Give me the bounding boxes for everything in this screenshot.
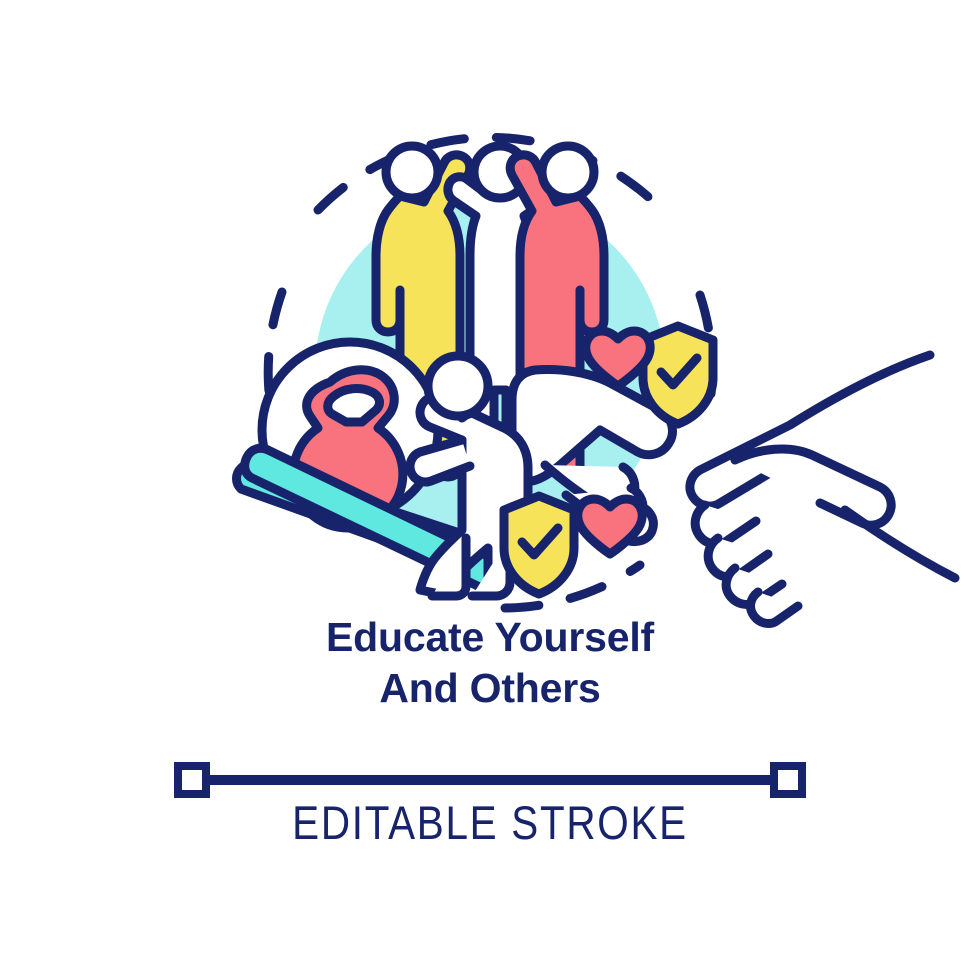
stroke-handle-left[interactable] [178, 766, 206, 794]
editable-stroke-label: EDITABLE STROKE [69, 795, 912, 850]
concept-icon-canvas: Educate Yourself And Others EDITABLE STR… [0, 0, 980, 980]
stroke-handle-right[interactable] [774, 766, 802, 794]
